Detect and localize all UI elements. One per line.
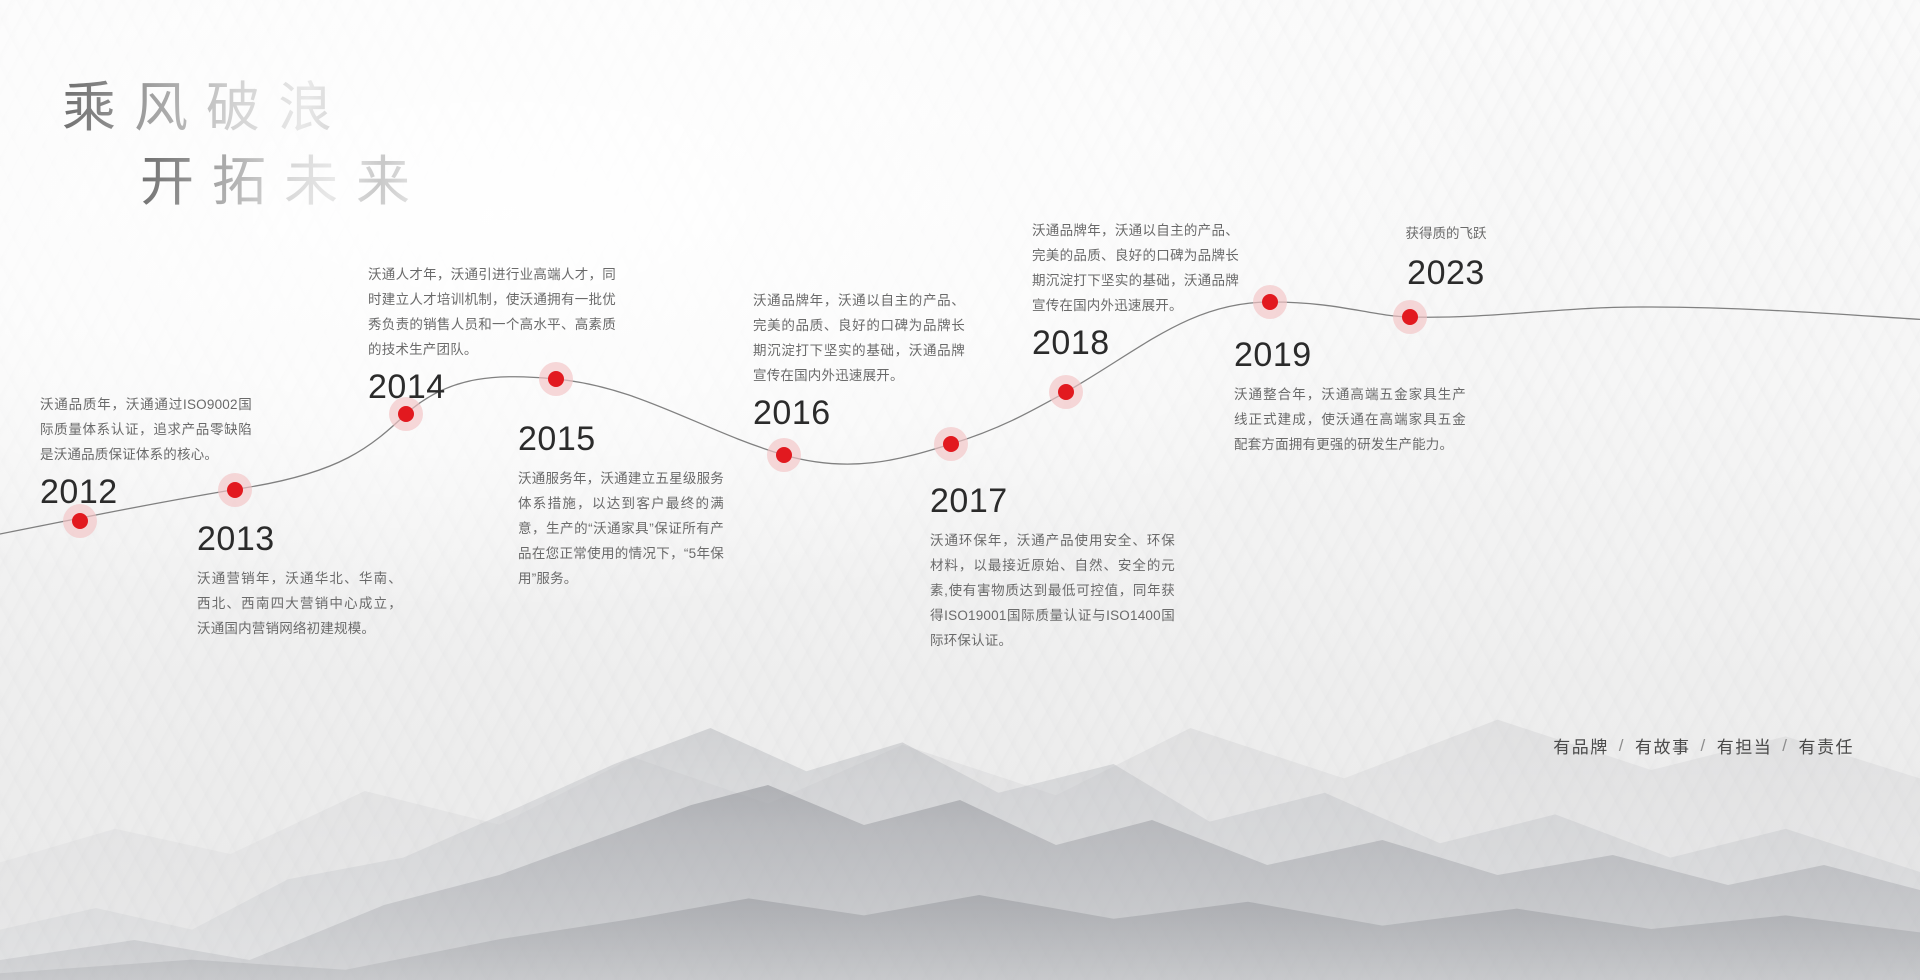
- milestone-description-2013: 沃通营销年，沃通华北、华南、西北、西南四大营销中心成立，沃通国内营销网络初建规模…: [197, 566, 402, 641]
- milestone-year-label-2018: 2018: [1032, 322, 1239, 364]
- headline-line-2: 开拓未来: [140, 148, 428, 216]
- marker-dot-icon: [398, 406, 414, 422]
- timeline-marker-2018[interactable]: [1049, 375, 1083, 409]
- milestone-2018[interactable]: 沃通品牌年，沃通以自主的产品、完美的品质、良好的口碑为品牌长期沉淀打下坚实的基础…: [1032, 218, 1239, 364]
- milestone-2013[interactable]: 2013沃通营销年，沃通华北、华南、西北、西南四大营销中心成立，沃通国内营销网络…: [197, 518, 402, 641]
- milestone-2014[interactable]: 沃通人才年，沃通引进行业高端人才，同时建立人才培训机制，使沃通拥有一批优秀负责的…: [368, 262, 616, 408]
- marker-dot-icon: [72, 513, 88, 529]
- milestone-description-2012: 沃通品质年，沃通通过ISO9002国际质量体系认证，追求产品零缺陷是沃通品质保证…: [40, 392, 252, 467]
- timeline-marker-2016[interactable]: [767, 438, 801, 472]
- marker-dot-icon: [776, 447, 792, 463]
- milestone-description-2018: 沃通品牌年，沃通以自主的产品、完美的品质、良好的口碑为品牌长期沉淀打下坚实的基础…: [1032, 218, 1239, 318]
- tagline-separator: /: [1619, 736, 1625, 756]
- headline-line-1: 乘风破浪: [62, 74, 428, 142]
- milestone-description-2015: 沃通服务年，沃通建立五星级服务体系措施，以达到客户最终的满意，生产的“沃通家具”…: [518, 466, 724, 591]
- tagline-item-1: 有品牌: [1553, 733, 1609, 758]
- marker-dot-icon: [1402, 309, 1418, 325]
- page-title: 乘风破浪 开拓未来: [62, 74, 428, 216]
- milestone-description-2016: 沃通品牌年，沃通以自主的产品、完美的品质、良好的口碑为品牌长期沉淀打下坚实的基础…: [753, 288, 965, 388]
- marker-dot-icon: [1058, 384, 1074, 400]
- tagline-item-4: 有责任: [1799, 733, 1855, 758]
- timeline-marker-2019[interactable]: [1253, 285, 1287, 319]
- timeline-poster: 乘风破浪 开拓未来 沃通品质年，沃通通过ISO9002国际质量体系认证，追求产品…: [0, 0, 1920, 980]
- marker-dot-icon: [943, 436, 959, 452]
- milestone-description-2019: 沃通整合年，沃通高端五金家具生产线正式建成，使沃通在高端家具五金配套方面拥有更强…: [1234, 382, 1466, 457]
- milestone-year-label-2015: 2015: [518, 418, 724, 460]
- milestone-year-label-2023: 2023: [1371, 252, 1521, 294]
- milestone-description-2017: 沃通环保年，沃通产品使用安全、环保材料，以最接近原始、自然、安全的元素,使有害物…: [930, 528, 1175, 653]
- milestone-year-label-2016: 2016: [753, 392, 965, 434]
- milestone-description-2014: 沃通人才年，沃通引进行业高端人才，同时建立人才培训机制，使沃通拥有一批优秀负责的…: [368, 262, 616, 362]
- milestone-2019[interactable]: 2019沃通整合年，沃通高端五金家具生产线正式建成，使沃通在高端家具五金配套方面…: [1234, 334, 1466, 457]
- tagline-item-2: 有故事: [1635, 733, 1691, 758]
- tagline-separator: /: [1701, 736, 1707, 756]
- milestone-year-label-2012: 2012: [40, 471, 252, 513]
- milestone-2023[interactable]: 获得质的飞跃2023: [1371, 222, 1521, 294]
- milestone-year-label-2014: 2014: [368, 366, 616, 408]
- milestone-year-label-2019: 2019: [1234, 334, 1466, 376]
- marker-dot-icon: [1262, 294, 1278, 310]
- milestone-2017[interactable]: 2017沃通环保年，沃通产品使用安全、环保材料，以最接近原始、自然、安全的元素,…: [930, 480, 1175, 653]
- milestone-year-label-2017: 2017: [930, 480, 1175, 522]
- milestone-2015[interactable]: 2015沃通服务年，沃通建立五星级服务体系措施，以达到客户最终的满意，生产的“沃…: [518, 418, 724, 591]
- milestone-year-label-2013: 2013: [197, 518, 402, 560]
- tagline-separator: /: [1782, 736, 1788, 756]
- tagline-item-3: 有担当: [1717, 733, 1773, 758]
- milestone-description-2023: 获得质的飞跃: [1371, 222, 1521, 246]
- milestone-2012[interactable]: 沃通品质年，沃通通过ISO9002国际质量体系认证，追求产品零缺陷是沃通品质保证…: [40, 392, 252, 513]
- timeline-marker-2023[interactable]: [1393, 300, 1427, 334]
- milestone-2016[interactable]: 沃通品牌年，沃通以自主的产品、完美的品质、良好的口碑为品牌长期沉淀打下坚实的基础…: [753, 288, 965, 434]
- footer-tagline: 有品牌/有故事/有担当/有责任: [1553, 733, 1854, 758]
